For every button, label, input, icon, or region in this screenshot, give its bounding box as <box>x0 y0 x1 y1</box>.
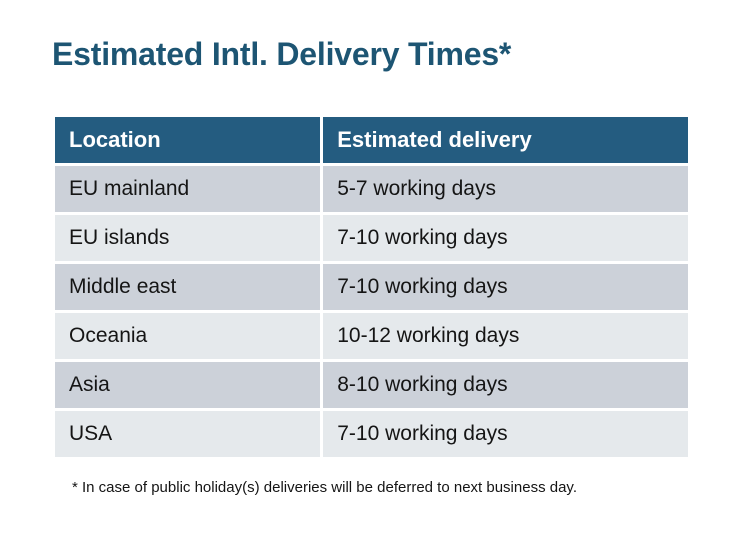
table-row: USA 7-10 working days <box>55 411 688 457</box>
column-header-estimated-delivery: Estimated delivery <box>323 117 688 163</box>
cell-estimate: 5-7 working days <box>323 166 688 212</box>
table-header-row: Location Estimated delivery <box>55 117 688 163</box>
cell-estimate: 8-10 working days <box>323 362 688 408</box>
estimated-delivery-table: Location Estimated delivery EU mainland … <box>52 114 691 460</box>
cell-location: EU mainland <box>55 166 320 212</box>
table-row: EU islands 7-10 working days <box>55 215 688 261</box>
table-row: EU mainland 5-7 working days <box>55 166 688 212</box>
delivery-times-page: Estimated Intl. Delivery Times* Location… <box>0 0 745 536</box>
page-title: Estimated Intl. Delivery Times* <box>52 36 511 73</box>
table-row: Oceania 10-12 working days <box>55 313 688 359</box>
cell-estimate: 10-12 working days <box>323 313 688 359</box>
cell-location: Oceania <box>55 313 320 359</box>
table-row: Asia 8-10 working days <box>55 362 688 408</box>
footnote-text: * In case of public holiday(s) deliverie… <box>72 479 577 496</box>
table-body: EU mainland 5-7 working days EU islands … <box>55 166 688 457</box>
cell-estimate: 7-10 working days <box>323 411 688 457</box>
cell-location: EU islands <box>55 215 320 261</box>
column-header-location: Location <box>55 117 320 163</box>
cell-location: Middle east <box>55 264 320 310</box>
cell-estimate: 7-10 working days <box>323 215 688 261</box>
cell-location: Asia <box>55 362 320 408</box>
cell-location: USA <box>55 411 320 457</box>
table-header: Location Estimated delivery <box>55 117 688 163</box>
table-row: Middle east 7-10 working days <box>55 264 688 310</box>
cell-estimate: 7-10 working days <box>323 264 688 310</box>
